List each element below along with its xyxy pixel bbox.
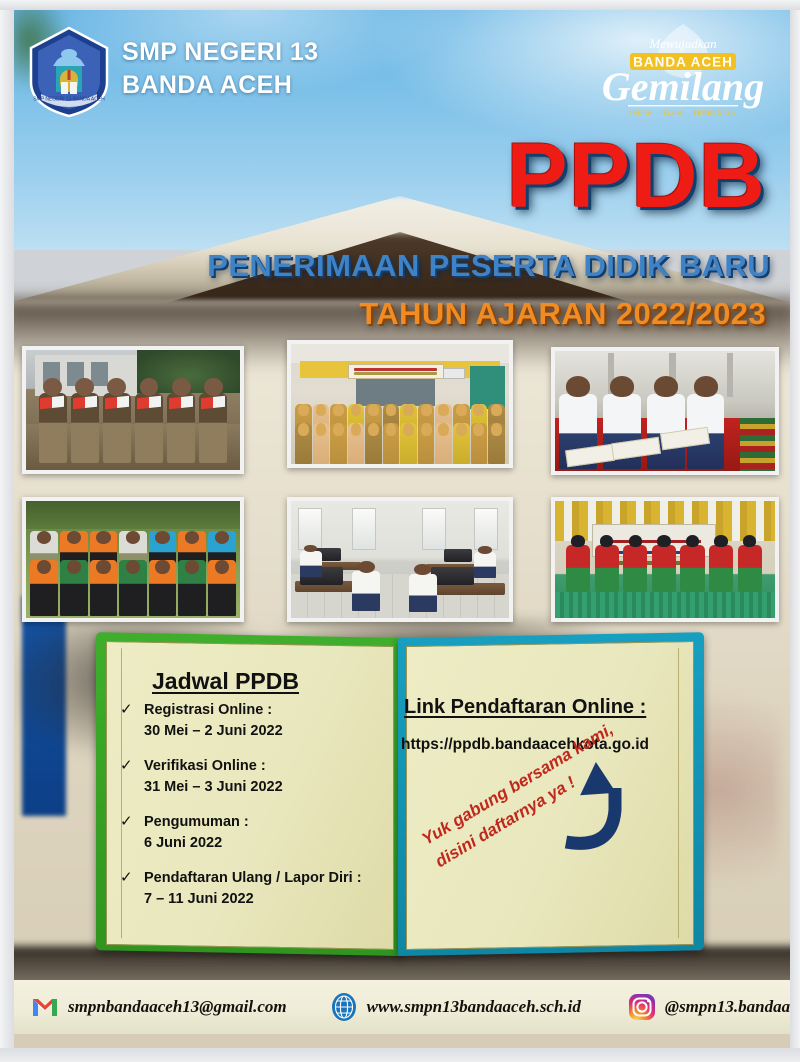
check-icon: ✓ [120, 700, 133, 742]
schedule-item-label: Pengumuman : [144, 812, 249, 833]
poster-frame-right [790, 0, 800, 1062]
schedule-item-date: 6 Juni 2022 [144, 833, 249, 854]
photo-quran-reading [551, 347, 779, 475]
list-item: ✓ Registrasi Online : 30 Mei – 2 Juni 20… [120, 700, 380, 742]
schedule-heading: Jadwal PPDB [152, 668, 299, 695]
svg-text:SMP NEGERI 13 BANDA ACEH: SMP NEGERI 13 BANDA ACEH [33, 97, 105, 103]
photo-soccer-team [22, 497, 244, 622]
list-item: ✓ Pengumuman : 6 Juni 2022 [120, 812, 380, 854]
check-icon: ✓ [120, 812, 133, 854]
instagram-text: @smpn13.bandaaceh [665, 997, 800, 1017]
svg-text:Mewujudkan: Mewujudkan [648, 36, 716, 51]
schedule-item-date: 7 – 11 Juni 2022 [144, 889, 362, 910]
schedule-item-label: Verifikasi Online : [144, 756, 283, 777]
page-title: SMP NEGERI 13 BANDA ACEH [122, 36, 318, 102]
photo-staff-group [287, 340, 513, 468]
title-ppdb: PPDB [506, 124, 766, 229]
contact-footer: smpnbandaaceh13@gmail.com www.smpn13band… [14, 980, 790, 1034]
photo-traditional-dance [551, 497, 779, 622]
poster-frame-bottom [0, 1048, 800, 1062]
poster-header: SMP NEGERI 13 BANDA ACEH SMP NEGERI 13 B… [0, 0, 800, 130]
list-item: ✓ Verifikasi Online : 31 Mei – 3 Juni 20… [120, 756, 380, 798]
schedule-item-label: Pendaftaran Ulang / Lapor Diri : [144, 868, 362, 889]
school-crest-icon: SMP NEGERI 13 BANDA ACEH [27, 26, 111, 118]
schedule-item-label: Registrasi Online : [144, 700, 283, 721]
poster-frame-left [0, 0, 14, 1062]
globe-icon [329, 992, 359, 1022]
svg-text:Gemilang: Gemilang [602, 64, 764, 109]
schedule-list: ✓ Registrasi Online : 30 Mei – 2 Juni 20… [120, 700, 380, 924]
school-name-line2: BANDA ACEH [122, 69, 318, 102]
contact-instagram[interactable]: @smpn13.bandaaceh [627, 992, 800, 1022]
schedule-item-date: 30 Mei – 2 Juni 2022 [144, 721, 283, 742]
schedule-item-date: 31 Mei – 3 Juni 2022 [144, 777, 283, 798]
contact-email[interactable]: smpnbandaaceh13@gmail.com [30, 992, 287, 1022]
title-academic-year: TAHUN AJARAN 2022/2023 [359, 296, 766, 332]
poster-frame-top [0, 0, 800, 10]
contact-website[interactable]: www.smpn13bandaaceh.sch.id [329, 992, 581, 1022]
gemilang-tagline: INDAH - ISLAMI - BERBUDAYA [630, 111, 736, 117]
email-text: smpnbandaaceh13@gmail.com [68, 997, 287, 1017]
gmail-icon [30, 992, 60, 1022]
photo-scouts [22, 346, 244, 474]
photo-computer-lab [287, 497, 513, 622]
registration-link-heading: Link Pendaftaran Online : [404, 696, 646, 719]
website-text: www.smpn13bandaaceh.sch.id [367, 997, 581, 1017]
gemilang-logo: Mewujudkan BANDA ACEH Gemilang INDAH - I… [588, 22, 778, 118]
title-subtitle: PENERIMAAN PESERTA DIDIK BARU [207, 248, 770, 284]
check-icon: ✓ [120, 868, 133, 910]
check-icon: ✓ [120, 756, 133, 798]
list-item: ✓ Pendaftaran Ulang / Lapor Diri : 7 – 1… [120, 868, 380, 910]
school-name-line1: SMP NEGERI 13 [122, 36, 318, 69]
ppdb-poster: SMP NEGERI 13 BANDA ACEH SMP NEGERI 13 B… [0, 0, 800, 1062]
instagram-icon [627, 992, 657, 1022]
